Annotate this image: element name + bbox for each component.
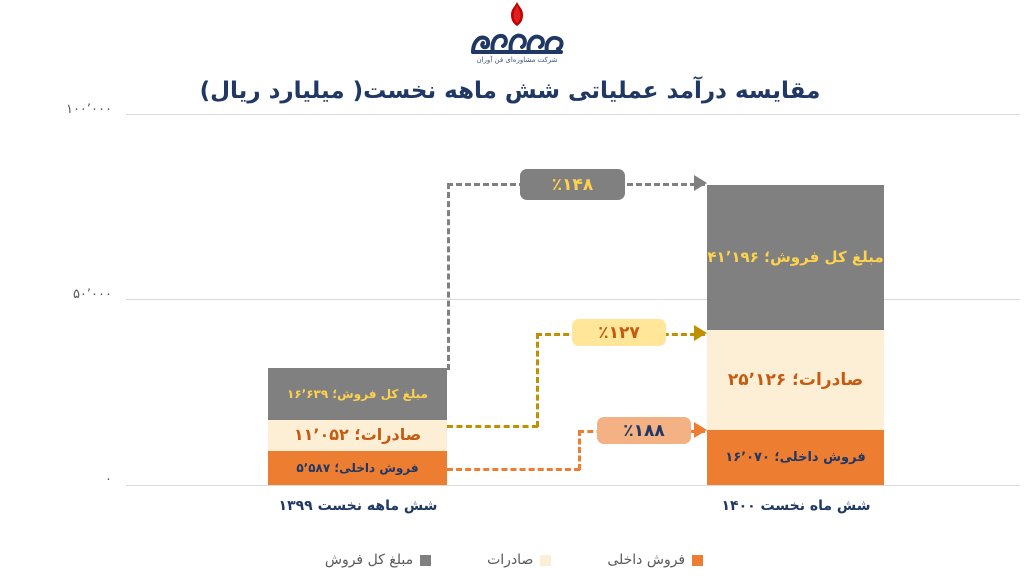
legend-swatch-export-icon — [540, 555, 551, 566]
bar-1400-export[interactable]: صادرات؛ ۲۵٬۱۲۶ — [707, 330, 884, 430]
growth-badge-domestic-label: ٪۱۸۸ — [623, 421, 665, 441]
y-axis: ۱۰۰٬۰۰۰ ۵۰٬۰۰۰ ۰ — [0, 0, 126, 588]
bar-1400-domestic[interactable]: فروش داخلی؛ ۱۶٬۰۷۰ — [707, 430, 884, 485]
y-tick-0: ۰ — [0, 472, 112, 487]
chart-legend: مبلغ کل فروش صادرات فروش داخلی — [0, 552, 1028, 568]
axis-baseline — [126, 485, 1020, 486]
gridline-50000 — [126, 299, 1020, 300]
legend-item-domestic[interactable]: فروش داخلی — [607, 552, 703, 568]
bar-1400-export-label: صادرات؛ ۲۵٬۱۲۶ — [728, 370, 863, 390]
connector-export-arrow — [694, 325, 707, 341]
bar-1399-domestic-label: فروش داخلی؛ ۵٬۵۸۷ — [296, 461, 418, 475]
category-label-1399: شش ماهه نخست ۱۳۹۹ — [230, 498, 486, 514]
bar-1399-domestic[interactable]: فروش داخلی؛ ۵٬۵۸۷ — [268, 451, 447, 485]
legend-item-total[interactable]: مبلغ کل فروش — [325, 552, 431, 568]
growth-badge-export[interactable]: ٪۱۲۷ — [572, 319, 666, 346]
legend-swatch-domestic-icon — [692, 555, 703, 566]
growth-badge-total-label: ٪۱۴۸ — [552, 175, 594, 195]
growth-badge-total[interactable]: ٪۱۴۸ — [520, 169, 625, 200]
gridline-100000 — [126, 114, 1020, 115]
bar-1399-export[interactable]: صادرات؛ ۱۱٬۰۵۲ — [268, 420, 447, 451]
bar-1400-total[interactable]: مبلغ کل فروش؛ ۴۱٬۱۹۶ — [707, 185, 884, 330]
bar-1399-total[interactable]: مبلغ کل فروش؛ ۱۶٬۶۳۹ — [268, 368, 447, 420]
bar-1400-domestic-label: فروش داخلی؛ ۱۶٬۰۷۰ — [725, 450, 865, 465]
connector-total-arrow — [694, 175, 707, 191]
slide-canvas: شرکت مشاوره‌ای فن آوران مقایسه درآمد عمل… — [0, 0, 1028, 588]
connector-domestic-vertical — [578, 430, 581, 470]
y-tick-100000: ۱۰۰٬۰۰۰ — [0, 102, 112, 117]
connector-domestic-horizontal-lower — [447, 468, 580, 471]
connector-export-vertical — [536, 333, 539, 427]
legend-label-domestic: فروش داخلی — [607, 552, 685, 568]
y-tick-50000: ۵۰٬۰۰۰ — [0, 287, 112, 302]
bar-1400-total-label: مبلغ کل فروش؛ ۴۱٬۱۹۶ — [707, 249, 883, 267]
connector-export-horizontal-lower — [447, 425, 538, 428]
bar-1399-total-label: مبلغ کل فروش؛ ۱۶٬۶۳۹ — [287, 387, 428, 401]
legend-label-export: صادرات — [487, 552, 533, 568]
growth-badge-export-label: ٪۱۲۷ — [598, 323, 640, 343]
growth-badge-domestic[interactable]: ٪۱۸۸ — [597, 417, 691, 444]
connector-total-vertical — [447, 183, 450, 370]
legend-swatch-total-icon — [420, 555, 431, 566]
bar-1399-export-label: صادرات؛ ۱۱٬۰۵۲ — [294, 426, 421, 445]
connector-domestic-arrow — [694, 422, 707, 438]
legend-label-total: مبلغ کل فروش — [325, 552, 413, 568]
category-label-1400: شش ماه نخست ۱۴۰۰ — [668, 498, 924, 514]
legend-item-export[interactable]: صادرات — [487, 552, 551, 568]
